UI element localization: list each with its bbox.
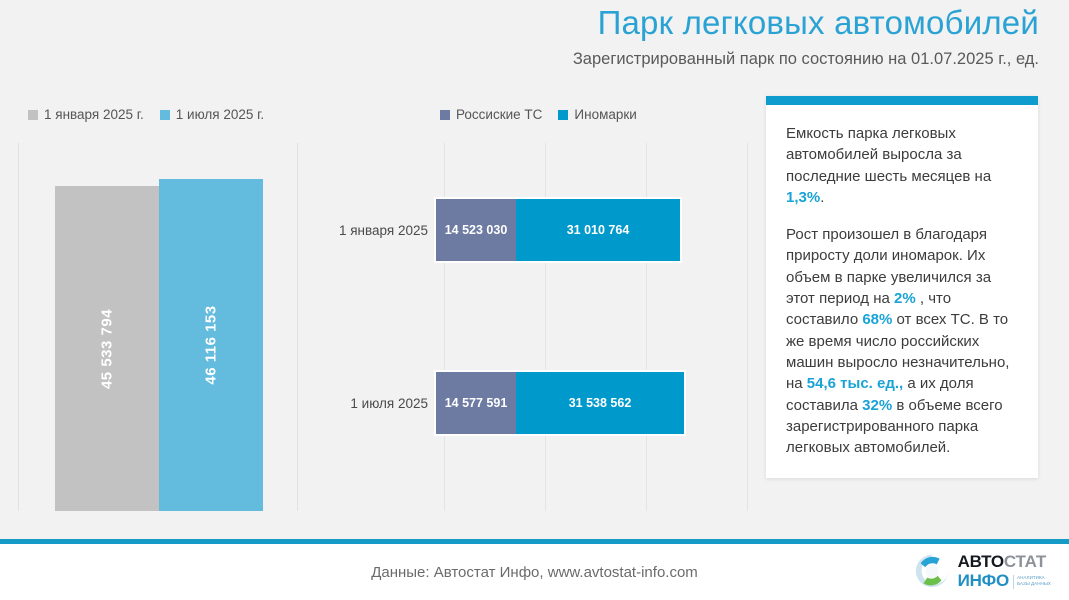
segment-foreign-jul: 31 538 562 [516,372,684,434]
legend-label-russian: Россиские ТС [456,107,542,122]
legend-item-jul: 1 июля 2025 г. [160,107,264,122]
column-bar-jul: 46 116 153 [159,179,263,511]
commentary-panel: Емкость парка легковых автомобилей вырос… [766,96,1038,478]
commentary-paragraph-2: Рост произошел в благодаря приросту доли… [786,224,1018,458]
stacked-bar-row-jan: 1 января 2025 14 523 030 31 010 764 [330,199,750,261]
column-chart: 45 533 794 46 116 153 [18,143,298,511]
legend-item-russian: Россиские ТС [440,107,542,122]
legend-item-jan: 1 января 2025 г. [28,107,144,122]
legend-swatch-cyan-light [160,110,170,120]
commentary-paragraph-1: Емкость парка легковых автомобилей вырос… [786,123,1018,208]
logo-line-info: ИНФО АНАЛИТИКА БАЗЫ ДАННЫХ [958,572,1051,589]
column-bar-jul-value: 46 116 153 [203,305,220,384]
legend-left-chart: 1 января 2025 г. 1 июля 2025 г. [28,107,264,122]
page-title: Парк легковых автомобилей [598,4,1039,42]
legend-swatch-gray [28,110,38,120]
p2-text-a: Рост произошел в благодаря приросту доли… [786,226,991,307]
legend-mid-chart: Россиские ТС Иномарки [440,107,637,122]
p1-text-a: Емкость парка легковых автомобилей вырос… [786,125,991,185]
segment-russian-jan: 14 523 030 [436,199,516,261]
legend-swatch-cyan [558,110,568,120]
logo-word-info: ИНФО [958,572,1009,589]
logo-tagline-line2: БАЗЫ ДАННЫХ [1017,581,1051,586]
logo-tagline: АНАЛИТИКА БАЗЫ ДАННЫХ [1013,575,1051,589]
p2-highlight-3: 54,6 тыс. ед., [807,375,903,392]
legend-swatch-slate [440,110,450,120]
panel-accent-bar [766,96,1038,105]
source-note: Данные: Автостат Инфо, www.avtostat-info… [0,544,1069,600]
stacked-bar-row-jul: 1 июля 2025 14 577 591 31 538 562 [330,372,750,434]
stack-jul: 14 577 591 31 538 562 [436,372,684,434]
bar-category-jul: 1 июля 2025 [330,396,436,411]
logo-swirl-icon [913,552,951,590]
infographic-slide: Парк легковых автомобилей Зарегистрирова… [0,0,1069,600]
logo-wordmark: АВТОСТАТ ИНФО АНАЛИТИКА БАЗЫ ДАННЫХ [958,553,1051,589]
logo-line-avtostat: АВТОСТАТ [958,553,1051,570]
logo-word-avto: АВТО [958,552,1004,571]
logo-word-stat: СТАТ [1004,552,1046,571]
avtostat-logo: АВТОСТАТ ИНФО АНАЛИТИКА БАЗЫ ДАННЫХ [913,552,1051,590]
page-subtitle: Зарегистрированный парк по состоянию на … [573,50,1039,69]
stacked-bar-chart: 1 января 2025 14 523 030 31 010 764 1 ию… [330,143,750,511]
legend-item-foreign: Иномарки [558,107,636,122]
header: Парк легковых автомобилей Зарегистрирова… [0,0,1069,90]
legend-label-foreign: Иномарки [574,107,636,122]
column-bar-jan: 45 533 794 [55,186,159,511]
p1-highlight: 1,3% [786,189,820,206]
p2-highlight-1: 2% [894,290,916,307]
bar-category-jan: 1 января 2025 [330,223,436,238]
legend-label-jul: 1 июля 2025 г. [176,107,264,122]
segment-foreign-jan: 31 010 764 [516,199,680,261]
p2-highlight-4: 32% [862,397,892,414]
legend-label-jan: 1 января 2025 г. [44,107,144,122]
p2-highlight-2: 68% [862,311,892,328]
column-chart-plot: 45 533 794 46 116 153 [55,179,263,511]
footer: Данные: Автостат Инфо, www.avtostat-info… [0,544,1069,600]
segment-russian-jul: 14 577 591 [436,372,516,434]
column-bar-jan-value: 45 533 794 [99,308,116,388]
p1-text-b: . [820,189,824,206]
stack-jan: 14 523 030 31 010 764 [436,199,680,261]
commentary-text: Емкость парка легковых автомобилей вырос… [766,105,1038,478]
logo-tagline-line1: АНАЛИТИКА [1017,575,1045,580]
